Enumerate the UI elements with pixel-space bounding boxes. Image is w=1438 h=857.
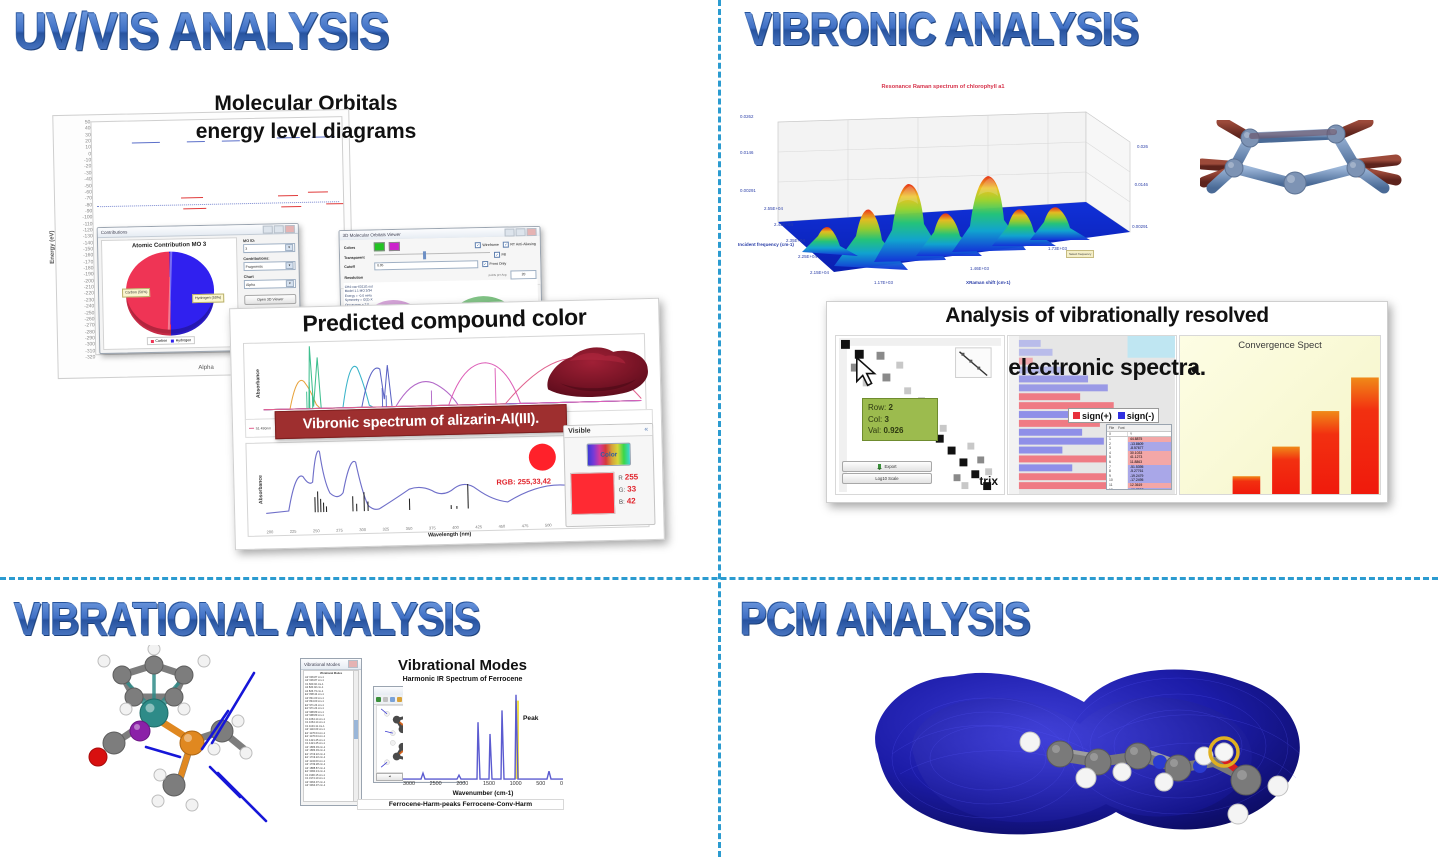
absorbance-axis-label-2: Absorbance [258,475,265,504]
absorbance-axis-label: Absorbance [255,369,262,398]
predicted-color-card: Predicted compound color Absorbance 2 [229,298,665,550]
raman-ztick-1: 0.0146 [740,150,753,155]
mo-level [278,195,298,196]
mo-level [308,192,328,193]
tooltip-row-key: Row: [868,403,886,412]
visible-color-panel[interactable]: Visible « Color R255 G:33 B:42 [563,423,655,527]
mo-level [281,206,301,207]
shift-vector-legend: sign(+) sign(-) [1068,408,1159,423]
minimize-icon[interactable] [263,225,273,233]
section-title-vibronic: VIBRONIC ANALYSIS [745,2,1139,56]
ir-spectrum-subtitle: Harmonic IR Spectrum of Ferrocene [365,676,560,683]
energy-ytick: -40 [58,177,92,183]
maximize-icon[interactable] [515,228,525,236]
cell-y: -16.7307 [1128,488,1171,490]
vibronic-card-title-line2: electronic spectra. [827,354,1387,381]
pie-label-carbon: Carbon (50%) [122,288,151,297]
ir-xaxis-label: Wavenumber (cm-1) [403,790,563,797]
pcm-cavity-visualization[interactable] [848,636,1348,856]
vibronic-panel: Resonance Raman spectrum of chlorophyll … [718,56,1438,556]
r-key: R [618,475,623,484]
wavelength-tick: 500 [545,522,552,527]
vibrational-modes-window[interactable]: Vibrational Modes Vibrational ModesA2' 6… [300,658,362,806]
ir-xtick: 500 [536,781,545,787]
stop-icon[interactable] [383,697,388,702]
viewer-window-buttons[interactable] [504,227,536,236]
table-menubar[interactable]: File Font [1107,425,1171,432]
tooltip-row-value: 2 [888,403,892,412]
ir-xtick: 1000 [510,781,522,787]
wavelength-tick: 350 [406,526,413,531]
maximize-icon[interactable] [274,225,284,233]
tooltip-col-key: Col: [868,415,882,424]
g-key: G: [619,487,626,496]
transparent-label: Transparent [344,255,370,260]
vibrational-modes-card: Vibrational Modes Vibrational ModesA2' 6… [295,653,565,808]
raman-ztick-0: 0.0262 [740,114,753,119]
color-picker-button[interactable]: Color [587,443,632,467]
poster-stage: UV/VIS ANALYSIS VIBRONIC ANALYSIS VIBRAT… [0,0,1438,857]
resolution-hint: points per Ang [489,273,507,277]
modes-scrollbar[interactable] [353,670,359,802]
ir-peak-annotation: Peak [523,715,538,722]
visible-panel-header[interactable]: Visible « [564,424,652,438]
cutoff-input[interactable]: 0.05 [374,260,478,270]
section-title-vibrational: VIBRATIONAL ANALYSIS [14,592,480,646]
tooltip-val-value: 0.926 [883,426,903,435]
color-picker-label: Color [588,451,630,459]
raman-ztick-2: 0.00291 [740,188,756,193]
energy-ytick: 10 [57,146,91,152]
ir-xtick: 2500 [430,781,442,787]
collapse-chevron-icon[interactable]: « [644,426,648,433]
legend-hydrogen: Hydrogen [176,338,192,342]
duschinsky-tooltip: Row: 2 Col: 3 Val: 0.926 [862,398,938,441]
raman-surface-svg [738,84,1148,314]
table-body: 144.88752-13.86093-8.57677430.1033541.12… [1107,437,1171,490]
table-header-y: Y [1128,432,1134,436]
color-swatch-negative[interactable] [389,242,400,251]
mo-level [181,197,204,198]
cutoff-label: Cutoff [344,264,370,269]
wavelength-tick: 475 [522,523,529,528]
resolution-label: Resolution [344,276,363,280]
horizontal-divider [0,577,1438,580]
b-value: 42 [627,495,636,507]
raman-yaxis-label: XRaman shift (cm-1) [966,280,1010,285]
wavelength-tick: 250 [313,528,320,533]
wavelength-tick: 275 [336,528,343,533]
save-icon[interactable] [397,697,402,702]
vibrational-modes-list[interactable]: Vibrational ModesA2' 636.87 cm-1A2' 636.… [303,670,359,802]
colors-label: Colors [344,245,370,250]
vibrational-modes-heading: Vibrational Modes [365,657,560,674]
wavelength-tick: 200 [267,529,274,534]
raman-3d-surface-chart[interactable]: Resonance Raman spectrum of chlorophyll … [738,84,1148,314]
antialias-checkbox[interactable]: ✓RT Anti-Aliasing [503,241,536,248]
section-title-uvvis: UV/VIS ANALYSIS [14,2,389,62]
pie-chart-title: Atomic Contribution MO 3 [102,238,236,250]
energy-ytick: -240 [60,304,94,310]
vibronic-analysis-card: Analysis of vibrationally resolved elect… [826,301,1388,503]
ir-spectrum-chart[interactable] [403,683,563,781]
compound-powder-image [539,337,652,402]
chart-select[interactable]: Alpha▾ [244,279,296,289]
mo-id-select[interactable]: 3▾ [243,243,295,253]
legend-sign-positive: sign(+) [1073,411,1112,421]
raman-ztick-r0: 0.026 [1137,144,1148,149]
pie-chart: Carbon (50%) Hydrogen (50%) [125,250,215,330]
play-icon[interactable] [376,697,381,702]
wavelength-tick: 375 [429,525,436,530]
duschinsky-log-scale-button[interactable]: Log10 Scale [842,473,932,484]
vibronic-caption-banner: Vibronic spectrum of alizarin-Al(III). [275,404,568,439]
mo-level [183,208,206,209]
energy-axis-label: Energy (eV) [49,230,56,263]
chevron-down-icon[interactable]: ▾ [285,262,293,269]
energy-ytick: -270 [61,323,95,329]
shift-vector-data-table[interactable]: File Font X Y 144.88752-13.86093-8.57677… [1106,424,1172,490]
close-icon[interactable] [285,224,295,232]
raman-xtick-3: 2.25E+04 [798,254,817,259]
modes-window-title: Vibrational Modes [304,662,346,667]
raman-xtick-1: 2.45E+04 [774,222,793,227]
rgb-values: R255 G:33 B:42 [618,471,639,513]
close-icon[interactable] [348,660,358,668]
raman-ytick-2: 1.73E+03 [1048,246,1067,251]
minimize-icon[interactable] [504,228,514,236]
g-value: 33 [627,483,636,495]
pie-label-hydrogen: Hydrogen (50%) [192,294,224,303]
b-key: B: [619,499,625,508]
rgb-readout: RGB: 255,33,42 [496,476,551,486]
window-buttons[interactable] [263,224,295,233]
transparency-slider[interactable] [374,252,490,259]
color-swatch-positive[interactable] [374,242,385,251]
export-icon [877,464,882,470]
rotate-icon[interactable] [390,697,395,702]
energy-ytick: -70 [58,197,92,203]
ir-xtick: 1500 [483,781,495,787]
geometry-overlay-molecule [1200,120,1410,250]
legend-sign-negative: sign(-) [1118,411,1155,421]
contrib-value: Fragments [246,264,263,268]
wireframe-checkbox[interactable]: ✓Wireframe [475,241,499,248]
mo-heading-line2: energy level diagrams [116,120,496,144]
open-3d-viewer-button[interactable]: Open 3D Viewer [244,294,296,305]
table-row[interactable]: 12-16.7307 [1107,488,1171,490]
ir-legend: Ferrocene-Harm-peaks Ferrocene-Conv-Harm [357,799,564,810]
raman-xtick-2: 2.35E+04 [786,238,805,243]
menu-font[interactable]: Font [1118,426,1124,430]
raman-ztick-r2: 0.00291 [1132,224,1148,229]
wavelength-tick: 425 [475,524,482,529]
menu-file[interactable]: File [1109,426,1114,430]
vibronic-card-title-line1: Analysis of vibrationally resolved [827,304,1387,328]
tooltip-col-value: 3 [884,415,888,424]
raman-xtick-0: 2.55E+04 [764,206,783,211]
chevron-down-icon[interactable]: ▾ [285,244,293,251]
raman-ztick-r1: 0.0146 [1135,182,1148,187]
front-only-checkbox[interactable]: ✓Front Only [482,261,506,268]
raman-ytick-0: 1.17E+03 [874,280,893,285]
wavelength-tick: 450 [498,524,505,529]
duschinsky-export-button[interactable]: Export [842,461,932,472]
raman-ytick-1: 1.46E+03 [970,266,989,271]
tooltip-val-key: Val: [868,426,881,435]
r-value: 255 [625,471,639,483]
ir-xtick: 2000 [456,781,468,787]
list-item[interactable]: A2' 3364.07 cm-1 [305,784,357,788]
cell-x: 12 [1107,488,1128,490]
ir-xtick: 0 [560,781,563,787]
chart-value: Alpha [246,282,255,286]
pie-chart-area[interactable]: Atomic Contribution MO 3 Carbon (50%) Hy… [101,237,239,350]
wavelength-tick: 225 [290,529,297,534]
duschinsky-partial-label: trix [979,474,998,488]
resolution-input[interactable]: 20 [510,269,536,279]
visible-panel-title: Visible [568,427,591,435]
wavelength-tick: 325 [383,526,390,531]
fill-checkbox[interactable]: ✓Fill [494,251,506,257]
vibrational-panel: Vibrational Modes Vibrational ModesA2' 6… [0,640,718,857]
contrib-select[interactable]: Fragments▾ [243,261,295,271]
raman-tooltip: Select frequency [1066,250,1094,258]
uvvis-panel: Molecular Orbitals energy level diagrams… [0,60,718,560]
close-icon[interactable] [526,227,536,235]
modes-titlebar: Vibrational Modes [301,659,361,670]
table-header-x: X [1107,432,1128,436]
predicted-color-swatch [570,472,615,515]
raman-xtick-4: 2.15E+04 [810,270,829,275]
mo-id-value: 3 [245,246,247,250]
homo-reference-line [97,201,339,207]
mo-level [326,203,344,204]
legend-carbon: Carbon [155,339,167,343]
wavelength-tick: 400 [452,525,459,530]
pie-legend: Carbon Hydrogen [147,336,196,345]
ir-xtick: 3000 [403,781,415,787]
pcm-panel [718,640,1438,857]
ir-xticks: 300025002000150010005000 [403,781,563,787]
scroll-thumb[interactable] [354,720,358,738]
chevron-down-icon[interactable]: ▾ [286,280,294,287]
vibration-displacement-molecule [62,645,277,825]
wavelength-tick: 300 [359,527,366,532]
energy-ytick: -320 [61,355,95,361]
